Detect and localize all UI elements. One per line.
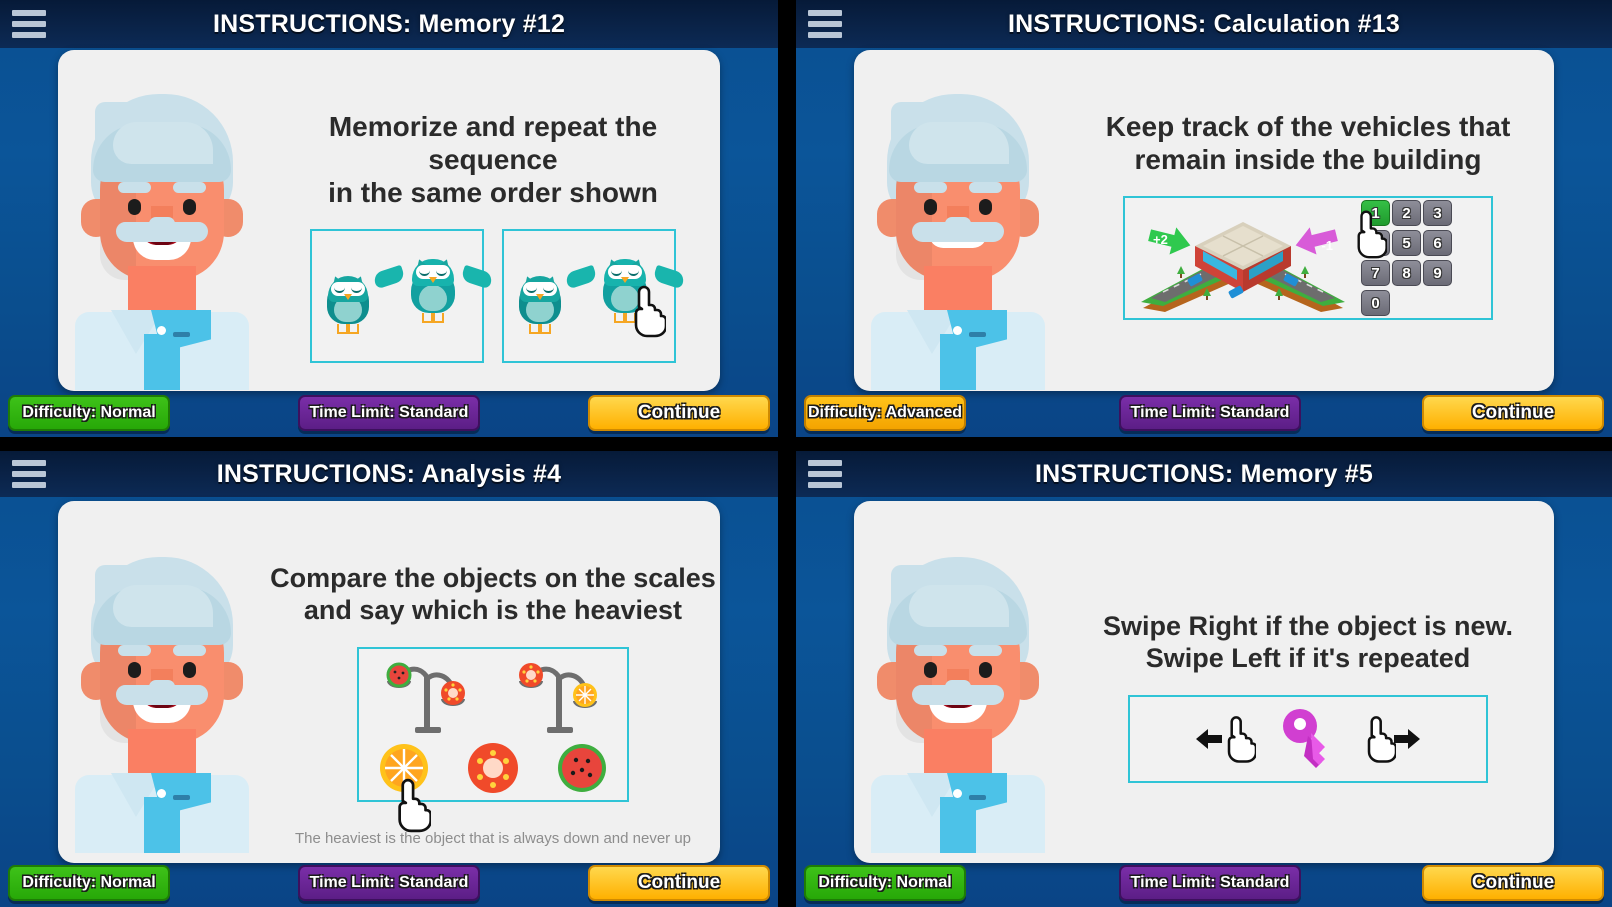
four-panel-screenshot-grid: INSTRUCTIONS: Memory #12 [0, 0, 1612, 907]
demo-city-keypad: +2 -1 1 2 3 4 5 6 7 [1123, 196, 1493, 320]
hamburger-menu-icon[interactable] [0, 451, 58, 498]
tomato-icon [519, 663, 543, 687]
keypad-key-6[interactable]: 6 [1423, 230, 1452, 256]
owl-small-icon [325, 274, 371, 330]
hamburger-menu-icon[interactable] [796, 451, 854, 498]
instruction-text: Compare the objects on the scales and sa… [270, 563, 716, 627]
avatar [58, 501, 266, 863]
owl-large-icon [396, 257, 470, 319]
time-limit-button[interactable]: Time Limit: Standard [298, 865, 480, 901]
page-title: INSTRUCTIONS: Analysis #4 [58, 460, 778, 489]
page-title: INSTRUCTIONS: Calculation #13 [854, 10, 1612, 39]
instruction-content: Compare the objects on the scales and sa… [266, 501, 720, 863]
time-limit-button[interactable]: Time Limit: Standard [1119, 395, 1301, 431]
panel-footer: Difficulty: Normal Time Limit: Standard … [796, 865, 1612, 903]
keypad-key-2[interactable]: 2 [1392, 200, 1421, 226]
instruction-card: Keep track of the vehicles that remain i… [854, 50, 1554, 391]
continue-button[interactable]: Continue [588, 395, 770, 431]
title-bar: INSTRUCTIONS: Memory #5 [796, 451, 1612, 497]
keypad-key-9[interactable]: 9 [1423, 260, 1452, 286]
avatar [58, 50, 266, 391]
instruction-content: Memorize and repeat the sequence in the … [266, 50, 720, 391]
swipe-right-gesture[interactable] [1360, 713, 1422, 765]
difficulty-button[interactable]: Difficulty: Normal [8, 865, 170, 901]
continue-button[interactable]: Continue [1422, 395, 1604, 431]
panel-analysis-4: INSTRUCTIONS: Analysis #4 [0, 451, 778, 907]
instruction-card: Swipe Right if the object is new. Swipe … [854, 501, 1554, 863]
keypad-key-8[interactable]: 8 [1392, 260, 1421, 286]
hand-pointer-icon [1349, 208, 1387, 260]
title-bar: INSTRUCTIONS: Calculation #13 [796, 0, 1612, 48]
keypad-key-7[interactable]: 7 [1361, 260, 1390, 286]
page-title: INSTRUCTIONS: Memory #12 [58, 10, 778, 39]
badge-in-label: +2 [1153, 232, 1168, 247]
swipe-frame[interactable] [1128, 695, 1488, 783]
continue-button[interactable]: Continue [1422, 865, 1604, 901]
instruction-content: Keep track of the vehicles that remain i… [1062, 50, 1554, 391]
swipe-left-gesture[interactable] [1194, 713, 1256, 765]
arrow-right-icon [1392, 727, 1422, 751]
panel-memory-12: INSTRUCTIONS: Memory #12 [0, 0, 778, 437]
instruction-card: Memorize and repeat the sequence in the … [58, 50, 720, 391]
panel-footer: Difficulty: Advanced Time Limit: Standar… [796, 395, 1612, 433]
keypad-key-0[interactable]: 0 [1361, 290, 1390, 316]
prompt-line-1: Swipe Right if the object is new. [1103, 611, 1513, 643]
hamburger-menu-icon[interactable] [796, 0, 854, 48]
keypad-key-5[interactable]: 5 [1392, 230, 1421, 256]
time-limit-button[interactable]: Time Limit: Standard [1119, 865, 1301, 901]
prompt-line-2: and say which is the heaviest [270, 595, 716, 627]
instruction-hint: The heaviest is the object that is alway… [266, 830, 720, 847]
hand-pointer-icon [626, 283, 666, 339]
key-icon [1278, 706, 1338, 772]
prompt-line-1: Compare the objects on the scales [270, 563, 716, 595]
avatar [854, 50, 1062, 391]
panel-memory-5: INSTRUCTIONS: Memory #5 [796, 451, 1612, 907]
prompt-line-1: Keep track of the vehicles that [1106, 110, 1511, 143]
difficulty-button[interactable]: Difficulty: Advanced [804, 395, 966, 431]
hand-pointer-icon [1220, 713, 1256, 765]
instruction-text: Swipe Right if the object is new. Swipe … [1103, 611, 1513, 675]
watermelon-choice[interactable] [556, 742, 608, 794]
difficulty-button[interactable]: Difficulty: Normal [804, 865, 966, 901]
balance-scale-1 [379, 657, 475, 735]
scales-frame [357, 647, 629, 802]
demo-swipe-key [1128, 695, 1488, 783]
owl-small-icon[interactable] [517, 274, 563, 330]
watermelon-icon [388, 664, 410, 686]
tomato-choice[interactable] [466, 741, 520, 795]
instruction-text: Memorize and repeat the sequence in the … [266, 110, 720, 209]
instruction-content: Swipe Right if the object is new. Swipe … [1062, 501, 1554, 863]
panel-footer: Difficulty: Normal Time Limit: Standard … [0, 865, 778, 903]
panel-footer: Difficulty: Normal Time Limit: Standard … [0, 395, 778, 433]
title-bar: INSTRUCTIONS: Analysis #4 [0, 451, 778, 497]
avatar [854, 501, 1062, 863]
title-bar: INSTRUCTIONS: Memory #12 [0, 0, 778, 48]
badge-out-label: -1 [1321, 238, 1333, 253]
prompt-line-1: Memorize and repeat the sequence [266, 110, 720, 176]
orange-icon [573, 683, 597, 707]
continue-button[interactable]: Continue [588, 865, 770, 901]
hamburger-menu-icon[interactable] [0, 0, 58, 48]
instruction-text: Keep track of the vehicles that remain i… [1106, 110, 1511, 176]
instruction-card: Compare the objects on the scales and sa… [58, 501, 720, 863]
prompt-line-2: Swipe Left if it's repeated [1103, 643, 1513, 675]
city-keypad-frame: +2 -1 1 2 3 4 5 6 7 [1123, 196, 1493, 320]
prompt-line-2: remain inside the building [1106, 143, 1511, 176]
demo-balance-scales [357, 647, 629, 802]
page-title: INSTRUCTIONS: Memory #5 [854, 460, 1612, 489]
hand-pointer-icon [389, 776, 431, 834]
balance-scale-2 [511, 657, 607, 735]
time-limit-button[interactable]: Time Limit: Standard [298, 395, 480, 431]
hand-pointer-icon [1360, 713, 1396, 765]
demo-owl-sequence [310, 229, 676, 363]
tomato-icon [441, 681, 465, 705]
keypad-key-3[interactable]: 3 [1423, 200, 1452, 226]
scales-row [365, 657, 621, 735]
panel-calculation-13: INSTRUCTIONS: Calculation #13 [796, 0, 1612, 437]
sequence-box-shown [310, 229, 484, 363]
difficulty-button[interactable]: Difficulty: Normal [8, 395, 170, 431]
prompt-line-2: in the same order shown [266, 176, 720, 209]
city-scene-illustration: +2 -1 [1133, 204, 1353, 312]
sequence-box-repeat[interactable] [502, 229, 676, 363]
